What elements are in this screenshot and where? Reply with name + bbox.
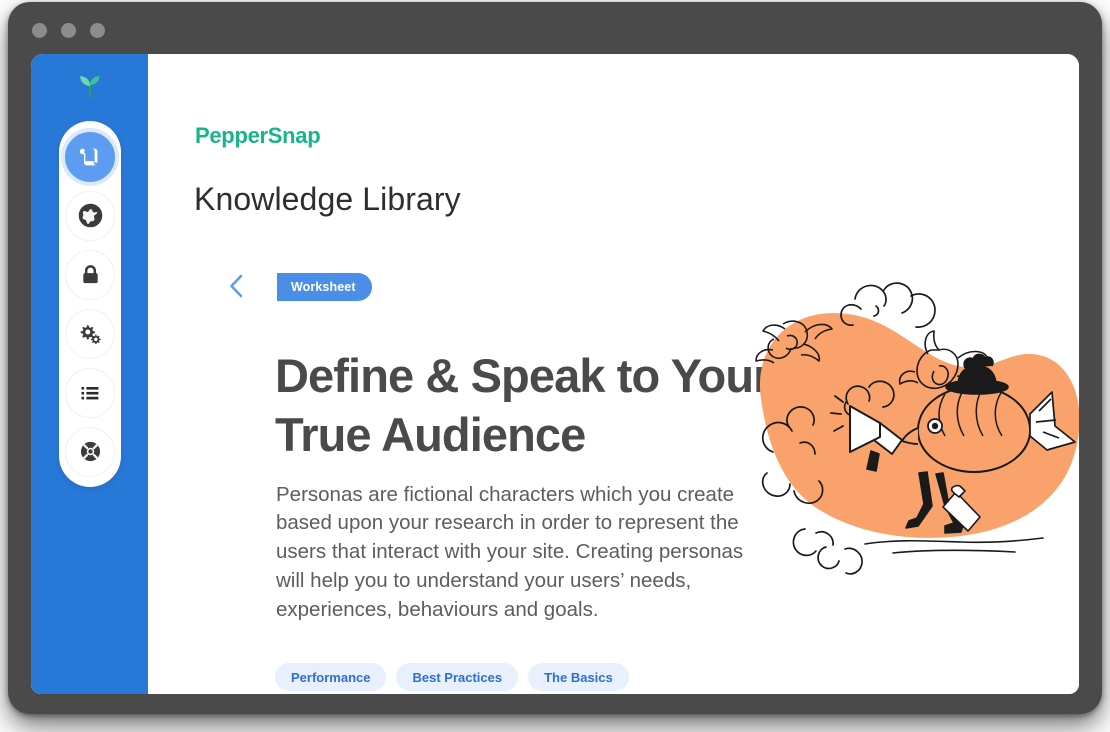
lifebuoy-icon [65, 427, 115, 477]
app-window: PepperSnap Knowledge Library Worksheet D… [8, 2, 1102, 714]
back-button[interactable] [220, 269, 254, 303]
chevron-left-icon [228, 273, 246, 299]
app-logo-text: PepperSnap [195, 123, 320, 149]
cloud-doodle-bottom [793, 529, 862, 574]
article-headline: Define & Speak to Your True Audience [275, 347, 795, 465]
close-button[interactable] [32, 23, 47, 38]
tag-list: Performance Best Practices The Basics [275, 663, 629, 691]
maximize-button[interactable] [90, 23, 105, 38]
sidebar [31, 54, 148, 694]
app-viewport: PepperSnap Knowledge Library Worksheet D… [31, 54, 1079, 694]
seedling-icon [31, 70, 148, 104]
fish-with-megaphone-illustration [743, 254, 1079, 599]
window-controls [32, 23, 105, 38]
sidebar-item-security[interactable] [59, 245, 121, 304]
tag-item[interactable]: The Basics [528, 663, 629, 691]
minimize-button[interactable] [61, 23, 76, 38]
window-titlebar [8, 2, 1102, 54]
page-title: Knowledge Library [194, 181, 461, 218]
lock-icon [65, 250, 115, 300]
tag-item[interactable]: Best Practices [396, 663, 518, 691]
sidebar-item-knowledge[interactable] [59, 127, 121, 186]
sidebar-item-settings[interactable] [59, 304, 121, 363]
list-icon [65, 368, 115, 418]
globe-icon [65, 191, 115, 241]
tag-item[interactable]: Performance [275, 663, 386, 691]
sidebar-item-list[interactable] [59, 363, 121, 422]
sidebar-nav [59, 121, 121, 487]
sidebar-item-support[interactable] [59, 422, 121, 481]
sidebar-item-globe[interactable] [59, 186, 121, 245]
ground-line [865, 538, 1043, 553]
main-content: PepperSnap Knowledge Library Worksheet D… [148, 54, 1079, 694]
article-body: Personas are fictional characters which … [276, 481, 746, 625]
cogs-icon [65, 309, 115, 359]
scroll-icon [65, 132, 115, 182]
status-badge: Worksheet [277, 273, 372, 301]
